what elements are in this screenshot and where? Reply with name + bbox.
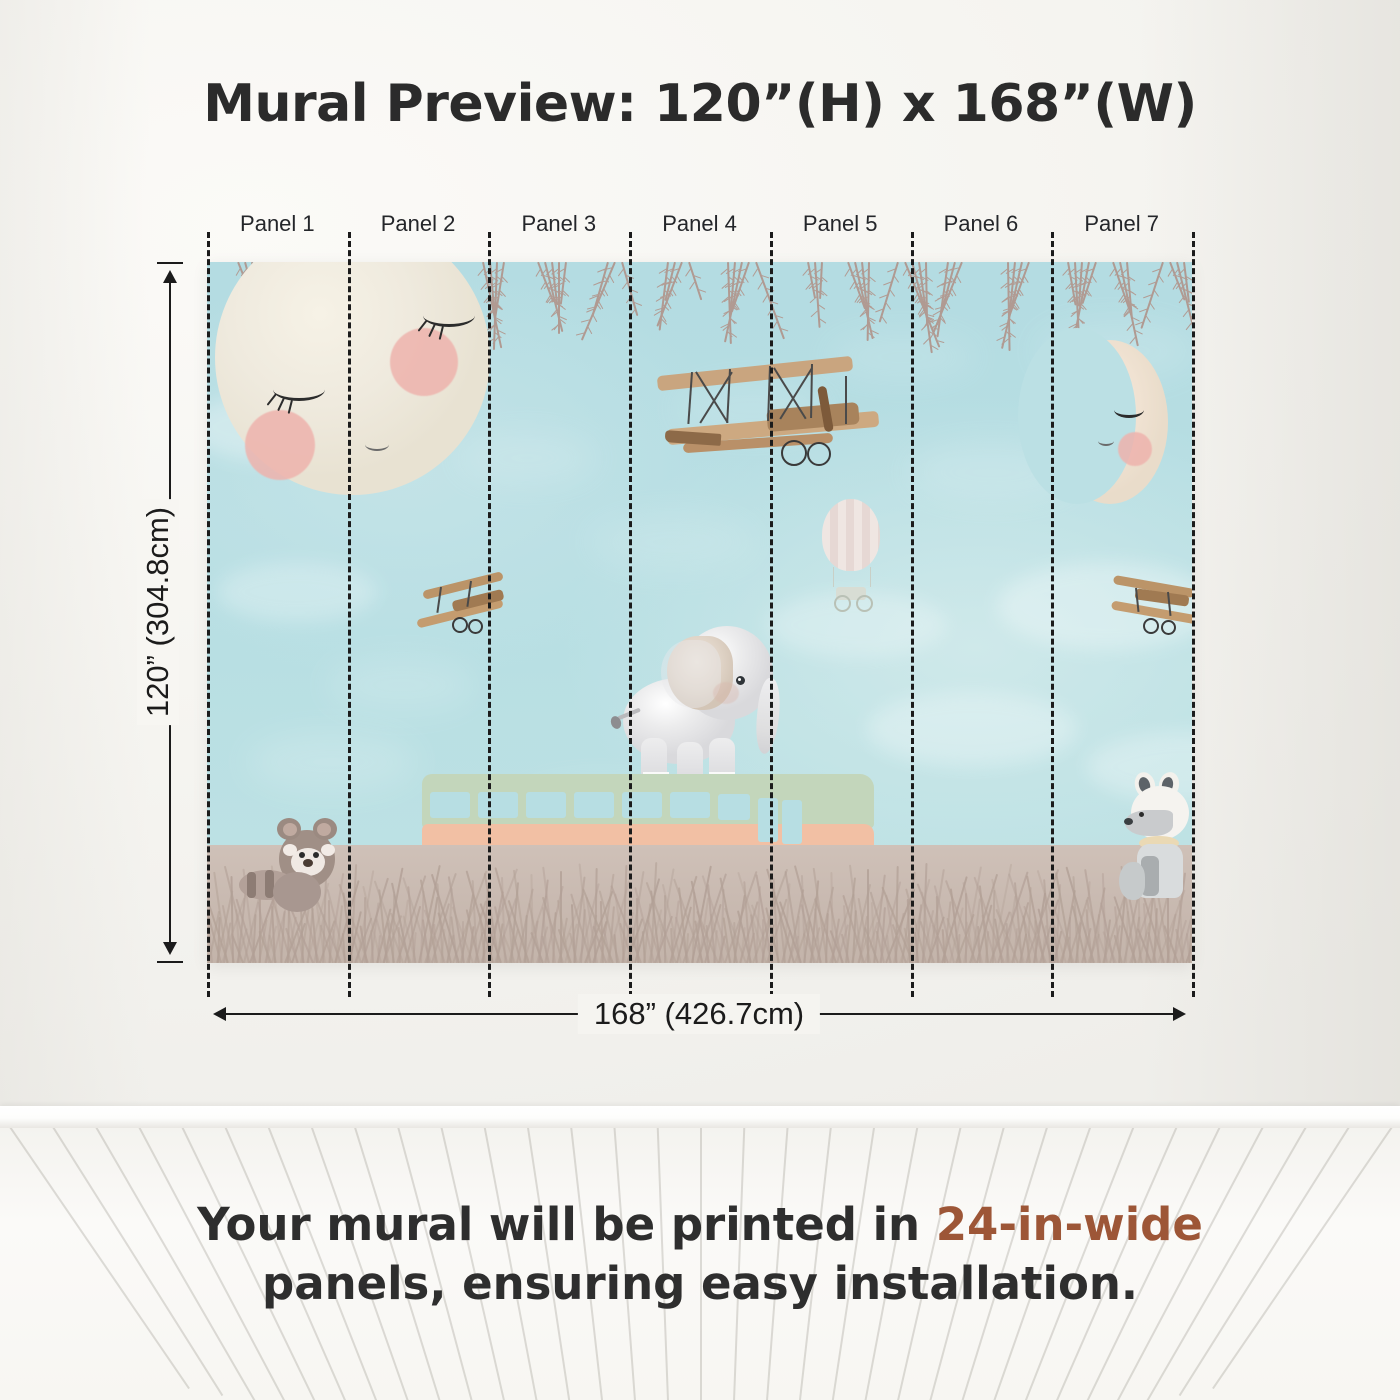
caption-line1-before: Your mural will be printed in (197, 1198, 936, 1251)
panel-label-6: Panel 6 (944, 211, 1019, 237)
height-dimension: 120” (304.8cm) (168, 262, 172, 963)
caption-line2: panels, ensuring easy installation. (262, 1257, 1138, 1310)
mural-edge-line (207, 232, 210, 997)
raccoon (239, 814, 359, 914)
wall-shade-left (0, 0, 150, 1115)
hot-air-balloon (820, 499, 884, 611)
panel-divider-1 (348, 232, 351, 997)
cloud (247, 732, 417, 792)
panel-label-row: Panel 1Panel 2Panel 3Panel 4Panel 5Panel… (207, 211, 1192, 241)
width-dimension: 168” (426.7cm) (207, 1012, 1192, 1016)
panel-label-1: Panel 1 (240, 211, 315, 237)
baseboard (0, 1106, 1400, 1128)
panel-label-3: Panel 3 (521, 211, 596, 237)
mural-edge-line (1192, 232, 1195, 997)
arctic-fox (1119, 770, 1192, 900)
panel-divider-5 (911, 232, 914, 997)
panel-label-7: Panel 7 (1084, 211, 1159, 237)
height-dimension-label: 120” (304.8cm) (137, 499, 179, 725)
panel-label-4: Panel 4 (662, 211, 737, 237)
caption-accent: 24-in-wide (936, 1198, 1203, 1251)
panel-label-5: Panel 5 (803, 211, 878, 237)
width-dimension-label: 168” (426.7cm) (578, 994, 820, 1034)
mural-artwork (207, 262, 1192, 963)
cloud (457, 432, 597, 484)
biplane-small-right (1107, 574, 1192, 634)
footer-caption: Your mural will be printed in 24-in-wide… (0, 1196, 1400, 1313)
page-title: Mural Preview: 120”(H) x 168”(W) (0, 74, 1400, 134)
panel-label-2: Panel 2 (381, 211, 456, 237)
biplane-small-left (412, 575, 512, 637)
crescent-moon-face (1052, 340, 1168, 504)
panel-divider-6 (1051, 232, 1054, 997)
cloud (587, 512, 757, 572)
cloud (867, 692, 1077, 766)
mural-preview-stage: Mural Preview: 120”(H) x 168”(W) Panel 1… (0, 0, 1400, 1400)
panel-divider-2 (488, 232, 491, 997)
elephant (605, 616, 790, 788)
panel-divider-3 (629, 232, 632, 997)
panel-divider-4 (770, 232, 773, 997)
cloud (217, 562, 377, 622)
